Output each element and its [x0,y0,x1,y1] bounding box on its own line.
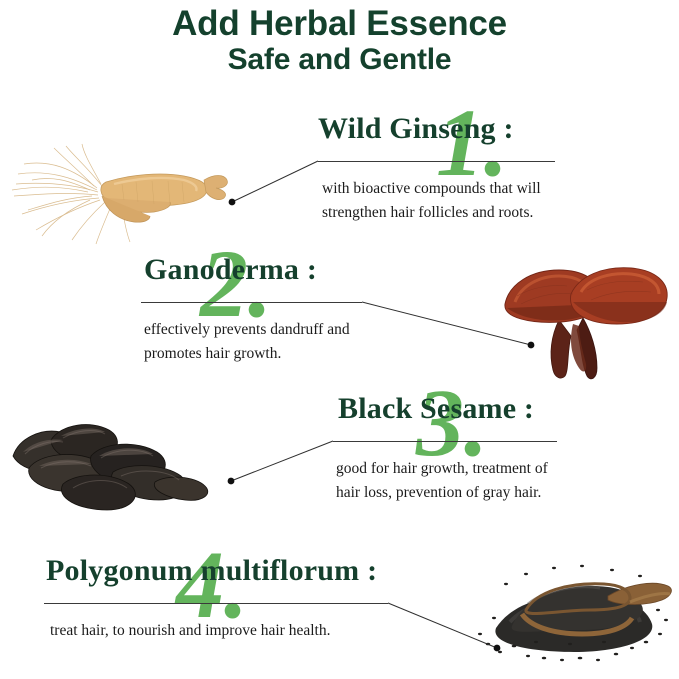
item-2-heading: Ganoderma : [144,253,317,286]
item-4-body: treat hair, to nourish and improve hair … [50,619,450,643]
item-polygonum-multiflorum: 4. Polygonum multiflorum : [46,554,377,588]
polygonum-multiflorum-graphic [5,412,220,522]
item-2-heading-row: 2. Ganoderma : [144,253,317,287]
item-4-rule [44,603,388,604]
black-sesame-photo [470,548,675,670]
title-line-2: Safe and Gentle [0,43,679,77]
item-black-sesame: 3. Black Sesame : [338,392,534,426]
item-4-heading: Polygonum multiflorum : [46,554,377,587]
title-line-1: Add Herbal Essence [0,4,679,43]
ginseng-root-photo [2,140,232,250]
item-3-rule [333,441,557,442]
connector-dot-3 [228,478,235,485]
page-title: Add Herbal Essence Safe and Gentle [0,4,679,77]
item-3-heading-row: 3. Black Sesame : [338,392,534,426]
item-3-heading: Black Sesame : [338,392,534,425]
item-ganoderma: 2. Ganoderma : [144,253,317,287]
black-sesame-graphic [470,548,675,670]
item-1-rule [318,161,555,162]
ginseng-root-graphic [2,140,232,250]
item-2-body: effectively prevents dandruff and promot… [144,318,434,366]
infographic-page: Add Herbal Essence Safe and Gentle [0,0,679,679]
item-1-heading: Wild Ginseng : [318,112,514,145]
connector-line-3 [231,441,333,481]
item-1-heading-row: 1. Wild Ginseng : [318,112,514,146]
connector-line-1 [232,161,318,202]
item-4-heading-row: 4. Polygonum multiflorum : [46,554,377,588]
item-2-rule [141,302,362,303]
ganoderma-mushroom-photo [487,252,672,382]
polygonum-multiflorum-photo [5,412,220,522]
item-wild-ginseng: 1. Wild Ginseng : [318,112,514,146]
ganoderma-mushroom-graphic [487,252,672,382]
